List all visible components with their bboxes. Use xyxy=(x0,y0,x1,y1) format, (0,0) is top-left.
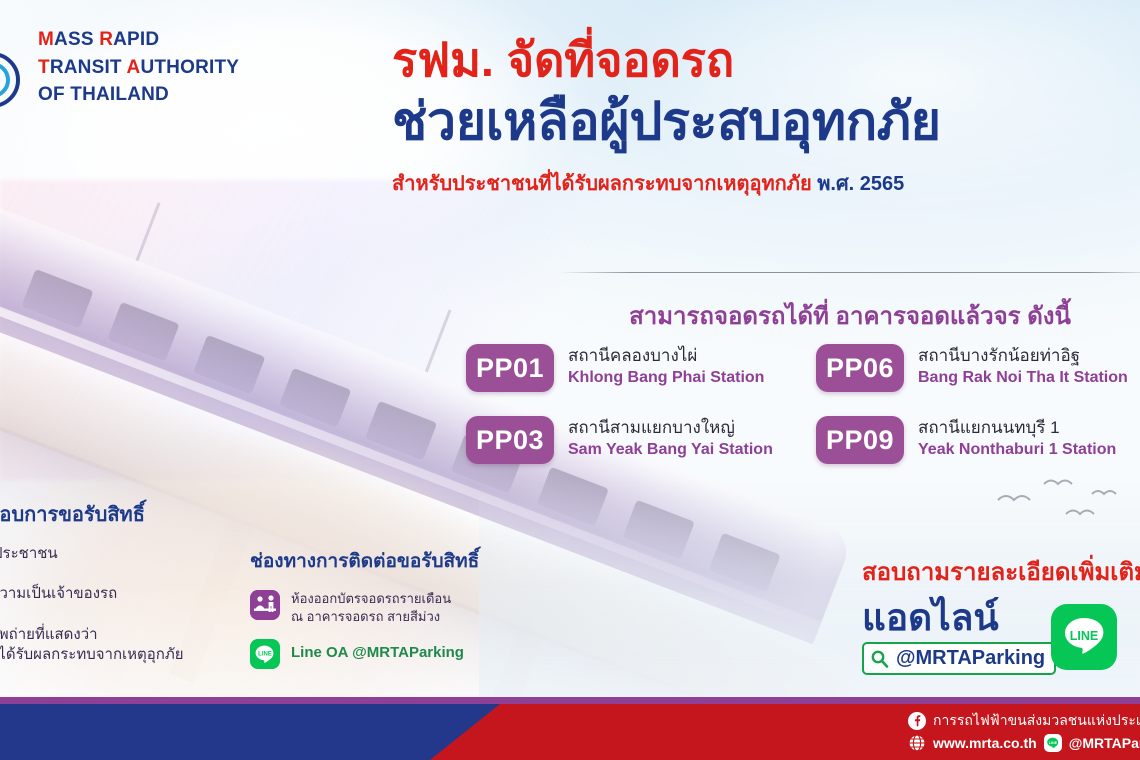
mrta-emblem-icon xyxy=(0,26,28,134)
station-name-en: Bang Rak Noi Tha It Station xyxy=(918,368,1128,389)
station-item[interactable]: PP06 สถานีบางรักน้อยท่าอิฐ Bang Rak Noi … xyxy=(816,344,1140,416)
contact-title: ช่องทางการติดต่อขอรับสิทธิ์ xyxy=(250,546,500,576)
cta-title: สอบถามรายละเอียดเพิ่มเติม xyxy=(862,552,1140,591)
logo-line-2: TRANSIT AUTHORITY xyxy=(38,54,239,82)
headline-block: รฟม. จัดที่จอดรถ ช่วยเหลือผู้ประสบอุทกภั… xyxy=(392,34,1132,199)
poster-canvas: MASS RAPID TRANSIT AUTHORITY OF THAILAND… xyxy=(0,0,1140,760)
stations-grid: PP01 สถานีคลองบางไผ่ Khlong Bang Phai St… xyxy=(466,344,1140,488)
section-divider xyxy=(560,272,1140,273)
ticket-counter-icon xyxy=(250,590,280,620)
footer-blue-wedge xyxy=(0,704,500,760)
documents-title: เอกสารประกอบการขอรับสิทธิ์ xyxy=(0,498,248,530)
station-name-en: Khlong Bang Phai Station xyxy=(568,368,764,389)
document-item: 2. เอกสารแสดงความเป็นเจ้าของรถ xyxy=(0,584,248,604)
line-app-icon: LINE xyxy=(250,639,280,669)
search-icon xyxy=(870,649,890,669)
footer-facebook-row[interactable]: การรถไฟฟ้าขนส่งมวลชนแห่งประเทศไทย xyxy=(908,710,1140,732)
station-name-th: สถานีแยกนนทบุรี 1 xyxy=(918,417,1116,438)
subtitle-text: สำหรับประชาชนที่ได้รับผลกระทบจากเหตุอุทก… xyxy=(392,173,812,195)
station-item[interactable]: PP01 สถานีคลองบางไผ่ Khlong Bang Phai St… xyxy=(466,344,816,416)
logo-line1-initial: M xyxy=(38,29,54,50)
line-logo-icon: LINE xyxy=(1056,609,1112,665)
cta-add-line-label: แอดไลน์ xyxy=(862,599,1037,636)
line-icon: LINE xyxy=(1044,734,1062,752)
contact-block: ช่องทางการติดต่อขอรับสิทธิ์ ห้องออกบัตรจ… xyxy=(250,546,500,669)
logo-line2-initial: T xyxy=(38,57,50,78)
logo-line-3: OF THAILAND xyxy=(38,81,239,109)
logo-line2-rest2: UTHORITY xyxy=(140,57,239,78)
footer-purple-stripe xyxy=(0,697,1140,704)
globe-icon xyxy=(908,734,926,752)
document-item-line1: 3. เอกสารหรือภาพถ่ายที่แสดงว่า xyxy=(0,626,98,643)
counter-line-2: ณ อาคารจอดรถ สายสีม่วง xyxy=(291,608,451,626)
mrta-logo: MASS RAPID TRANSIT AUTHORITY OF THAILAND xyxy=(0,26,239,134)
document-item: 1. บัตรประจำตัวประชาชน xyxy=(0,544,248,564)
headline-line-2: ช่วยเหลือผู้ประสบอุทกภัย xyxy=(392,93,1132,151)
station-name-en: Yeak Nonthaburi 1 Station xyxy=(918,440,1116,461)
documents-list: 1. บัตรประจำตัวประชาชน 2. เอกสารแสดงความ… xyxy=(0,544,248,665)
station-name-th: สถานีสามแยกบางใหญ่ xyxy=(568,417,773,438)
logo-line-1: MASS RAPID xyxy=(38,26,239,54)
footer-bar: การรถไฟฟ้าขนส่งมวลชนแห่งประเทศไทย www.mr… xyxy=(0,704,1140,760)
subtitle-year: พ.ศ. 2565 xyxy=(817,173,904,195)
footer-contact-info: การรถไฟฟ้าขนส่งมวลชนแห่งประเทศไทย www.mr… xyxy=(908,710,1140,754)
headline-subtitle: สำหรับประชาชนที่ได้รับผลกระทบจากเหตุอุทก… xyxy=(392,167,1132,199)
line-oa-label: Line OA @MRTAParking xyxy=(291,639,464,661)
line-id-search-box[interactable]: @MRTAParking xyxy=(862,642,1056,675)
station-code-badge: PP06 xyxy=(816,344,904,392)
footer-website: www.mrta.co.th xyxy=(933,735,1037,751)
stations-heading: สามารถจอดรถได้ที่ อาคารจอดแล้วจร ดังนี้ xyxy=(560,296,1140,335)
station-item[interactable]: PP03 สถานีสามแยกบางใหญ่ Sam Yeak Bang Ya… xyxy=(466,416,816,488)
svg-text:LINE: LINE xyxy=(1049,741,1058,745)
documents-block: เอกสารประกอบการขอรับสิทธิ์ 1. บัตรประจำต… xyxy=(0,498,248,685)
footer-facebook-name: การรถไฟฟ้าขนส่งมวลชนแห่งประเทศไทย xyxy=(933,710,1140,732)
station-item[interactable]: PP09 สถานีแยกนนทบุรี 1 Yeak Nonthaburi 1… xyxy=(816,416,1140,488)
contact-counter-row[interactable]: ห้องออกบัตรจอดรถรายเดือน ณ อาคารจอดรถ สา… xyxy=(250,590,500,625)
logo-line2-initial2: A xyxy=(127,57,141,78)
logo-line1-rest2: APID xyxy=(113,29,159,50)
line-cta-block: สอบถามรายละเอียดเพิ่มเติม แอดไลน์ @MRTAP… xyxy=(862,552,1140,675)
contact-line-row[interactable]: LINE Line OA @MRTAParking xyxy=(250,639,500,669)
counter-line-1: ห้องออกบัตรจอดรถรายเดือน xyxy=(291,590,451,608)
station-name-en: Sam Yeak Bang Yai Station xyxy=(568,440,773,461)
station-name-th: สถานีบางรักน้อยท่าอิฐ xyxy=(918,345,1128,366)
footer-web-line-row[interactable]: www.mrta.co.th LINE @MRTAParking xyxy=(908,732,1140,754)
facebook-icon xyxy=(908,712,926,730)
headline-line-1: รฟม. จัดที่จอดรถ xyxy=(392,34,1132,87)
station-code-badge: PP01 xyxy=(466,344,554,392)
logo-line2-rest: RANSIT xyxy=(50,57,127,78)
line-id-text: @MRTAParking xyxy=(896,647,1045,670)
svg-text:LINE: LINE xyxy=(1070,629,1098,643)
station-code-badge: PP09 xyxy=(816,416,904,464)
document-item: 3. เอกสารหรือภาพถ่ายที่แสดงว่า ที่อยู่อา… xyxy=(0,625,248,666)
station-code-badge: PP03 xyxy=(466,416,554,464)
footer-line-id: @MRTAParking xyxy=(1069,735,1140,751)
svg-text:LINE: LINE xyxy=(258,651,272,657)
logo-line1-initial2: R xyxy=(99,29,113,50)
logo-line1-rest: ASS xyxy=(54,29,99,50)
document-item-line2: ที่อยู่อาศัยปัจจุบันได้รับผลกระทบจากเหตุ… xyxy=(0,646,184,663)
station-name-th: สถานีคลองบางไผ่ xyxy=(568,345,764,366)
line-badge[interactable]: LINE xyxy=(1051,604,1117,670)
